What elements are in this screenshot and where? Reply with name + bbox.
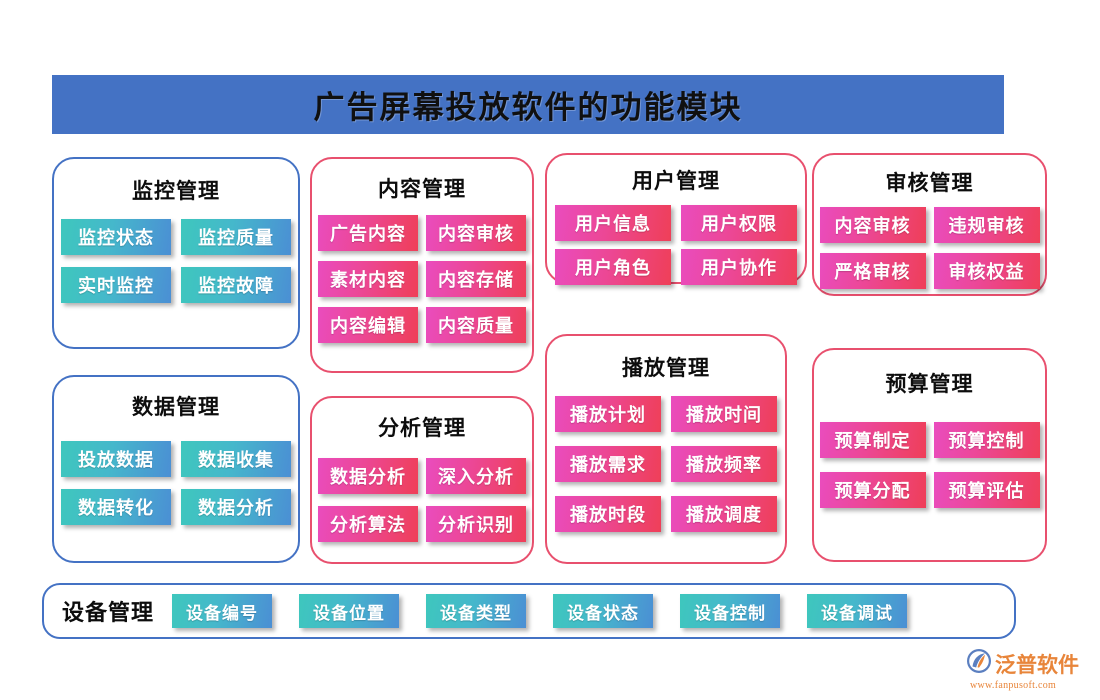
chip-user-4[interactable]: 用户协作 bbox=[681, 249, 797, 285]
chip-user-1[interactable]: 用户信息 bbox=[555, 205, 671, 241]
chip-analysis-2[interactable]: 深入分析 bbox=[426, 458, 526, 494]
card-title-budget: 预算管理 bbox=[814, 368, 1045, 398]
chip-device-4[interactable]: 设备状态 bbox=[553, 594, 653, 628]
chip-data-1[interactable]: 投放数据 bbox=[61, 441, 171, 477]
chip-analysis-3[interactable]: 分析算法 bbox=[318, 506, 418, 542]
card-title-monitoring: 监控管理 bbox=[54, 175, 298, 205]
chip-audit-4[interactable]: 审核权益 bbox=[934, 253, 1040, 289]
page-title: 广告屏幕投放软件的功能模块 bbox=[314, 82, 743, 127]
device-chip-list: 设备编号设备位置设备类型设备状态设备控制设备调试 bbox=[172, 594, 907, 628]
chip-device-1[interactable]: 设备编号 bbox=[172, 594, 272, 628]
chip-list-budget: 预算制定预算控制预算分配预算评估 bbox=[814, 422, 1045, 508]
card-title-data: 数据管理 bbox=[54, 391, 298, 421]
chip-budget-1[interactable]: 预算制定 bbox=[820, 422, 926, 458]
chip-audit-2[interactable]: 违规审核 bbox=[934, 207, 1040, 243]
chip-data-3[interactable]: 数据转化 bbox=[61, 489, 171, 525]
card-audit: 审核管理内容审核违规审核严格审核审核权益 bbox=[812, 153, 1047, 296]
chip-user-3[interactable]: 用户角色 bbox=[555, 249, 671, 285]
chip-monitoring-3[interactable]: 实时监控 bbox=[61, 267, 171, 303]
chip-budget-3[interactable]: 预算分配 bbox=[820, 472, 926, 508]
logo-row: 泛普软件 bbox=[966, 648, 1079, 679]
card-device-management: 设备管理 设备编号设备位置设备类型设备状态设备控制设备调试 bbox=[42, 583, 1016, 639]
chip-budget-2[interactable]: 预算控制 bbox=[934, 422, 1040, 458]
chip-playback-4[interactable]: 播放频率 bbox=[671, 446, 777, 482]
chip-monitoring-1[interactable]: 监控状态 bbox=[61, 219, 171, 255]
card-analysis: 分析管理数据分析深入分析分析算法分析识别 bbox=[310, 396, 534, 564]
chip-analysis-4[interactable]: 分析识别 bbox=[426, 506, 526, 542]
chip-analysis-1[interactable]: 数据分析 bbox=[318, 458, 418, 494]
chip-content-4[interactable]: 内容存储 bbox=[426, 261, 526, 297]
chip-list-content: 广告内容内容审核素材内容内容存储内容编辑内容质量 bbox=[312, 215, 532, 343]
chip-data-2[interactable]: 数据收集 bbox=[181, 441, 291, 477]
chip-device-5[interactable]: 设备控制 bbox=[680, 594, 780, 628]
chip-playback-2[interactable]: 播放时间 bbox=[671, 396, 777, 432]
card-title-content: 内容管理 bbox=[312, 173, 532, 203]
chip-audit-3[interactable]: 严格审核 bbox=[820, 253, 926, 289]
card-title-audit: 审核管理 bbox=[814, 167, 1045, 197]
chip-playback-1[interactable]: 播放计划 bbox=[555, 396, 661, 432]
card-title-user: 用户管理 bbox=[547, 165, 805, 195]
chip-device-2[interactable]: 设备位置 bbox=[299, 594, 399, 628]
chip-content-5[interactable]: 内容编辑 bbox=[318, 307, 418, 343]
chip-device-6[interactable]: 设备调试 bbox=[807, 594, 907, 628]
chip-content-6[interactable]: 内容质量 bbox=[426, 307, 526, 343]
chip-list-playback: 播放计划播放时间播放需求播放频率播放时段播放调度 bbox=[547, 396, 785, 532]
title-banner: 广告屏幕投放软件的功能模块 bbox=[52, 75, 1004, 134]
card-user: 用户管理用户信息用户权限用户角色用户协作 bbox=[545, 153, 807, 284]
chip-content-3[interactable]: 素材内容 bbox=[318, 261, 418, 297]
card-title-device-management: 设备管理 bbox=[62, 595, 154, 627]
chip-list-data: 投放数据数据收集数据转化数据分析 bbox=[54, 441, 298, 525]
card-title-playback: 播放管理 bbox=[547, 352, 785, 382]
chip-content-2[interactable]: 内容审核 bbox=[426, 215, 526, 251]
card-content: 内容管理广告内容内容审核素材内容内容存储内容编辑内容质量 bbox=[310, 157, 534, 373]
logo-brand-name: 泛普软件 bbox=[995, 649, 1079, 679]
fanpu-swoosh-icon bbox=[966, 648, 992, 679]
brand-logo: 泛普软件 www.fanpusoft.com bbox=[966, 648, 1096, 694]
chip-data-4[interactable]: 数据分析 bbox=[181, 489, 291, 525]
chip-playback-3[interactable]: 播放需求 bbox=[555, 446, 661, 482]
chip-playback-5[interactable]: 播放时段 bbox=[555, 496, 661, 532]
chip-audit-1[interactable]: 内容审核 bbox=[820, 207, 926, 243]
chip-user-2[interactable]: 用户权限 bbox=[681, 205, 797, 241]
logo-url: www.fanpusoft.com bbox=[970, 680, 1056, 691]
chip-list-analysis: 数据分析深入分析分析算法分析识别 bbox=[312, 458, 532, 542]
chip-device-3[interactable]: 设备类型 bbox=[426, 594, 526, 628]
card-title-analysis: 分析管理 bbox=[312, 412, 532, 442]
chip-budget-4[interactable]: 预算评估 bbox=[934, 472, 1040, 508]
chip-list-audit: 内容审核违规审核严格审核审核权益 bbox=[814, 207, 1045, 289]
card-data: 数据管理投放数据数据收集数据转化数据分析 bbox=[52, 375, 300, 563]
chip-content-1[interactable]: 广告内容 bbox=[318, 215, 418, 251]
card-budget: 预算管理预算制定预算控制预算分配预算评估 bbox=[812, 348, 1047, 562]
chip-monitoring-2[interactable]: 监控质量 bbox=[181, 219, 291, 255]
chip-monitoring-4[interactable]: 监控故障 bbox=[181, 267, 291, 303]
chip-list-user: 用户信息用户权限用户角色用户协作 bbox=[547, 205, 805, 285]
card-playback: 播放管理播放计划播放时间播放需求播放频率播放时段播放调度 bbox=[545, 334, 787, 564]
chip-playback-6[interactable]: 播放调度 bbox=[671, 496, 777, 532]
chip-list-monitoring: 监控状态监控质量实时监控监控故障 bbox=[54, 219, 298, 303]
card-monitoring: 监控管理监控状态监控质量实时监控监控故障 bbox=[52, 157, 300, 349]
